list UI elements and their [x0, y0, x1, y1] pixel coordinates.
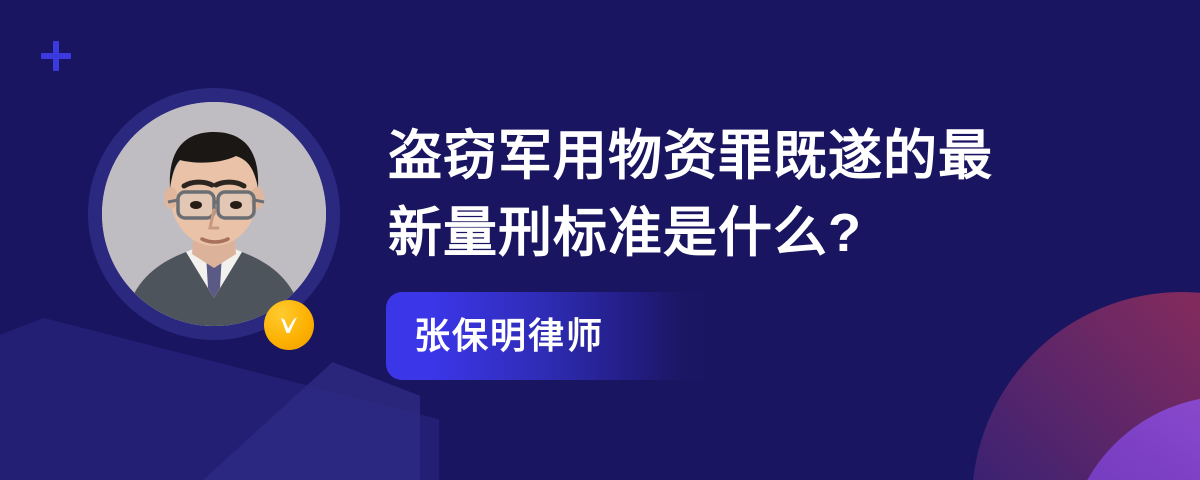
verified-check-icon — [264, 300, 314, 350]
lawyer-name-badge[interactable]: 张保明律师 — [386, 292, 712, 380]
circle-maroon-shape — [972, 292, 1200, 480]
plus-icon — [41, 41, 71, 71]
headline-block: 盗窃军用物资罪既遂的最 新量刑标准是什么? — [388, 118, 1088, 271]
page-title: 盗窃军用物资罪既遂的最 新量刑标准是什么? — [388, 118, 1088, 271]
lawyer-qa-banner: 盗窃军用物资罪既遂的最 新量刑标准是什么? 张保明律师 — [0, 0, 1200, 480]
avatar-photo — [102, 102, 326, 326]
lawyer-name-label: 张保明律师 — [414, 318, 604, 354]
avatar[interactable] — [88, 88, 340, 340]
polygon-left-small-shape — [190, 362, 420, 480]
circle-violet-shape — [1066, 396, 1200, 480]
